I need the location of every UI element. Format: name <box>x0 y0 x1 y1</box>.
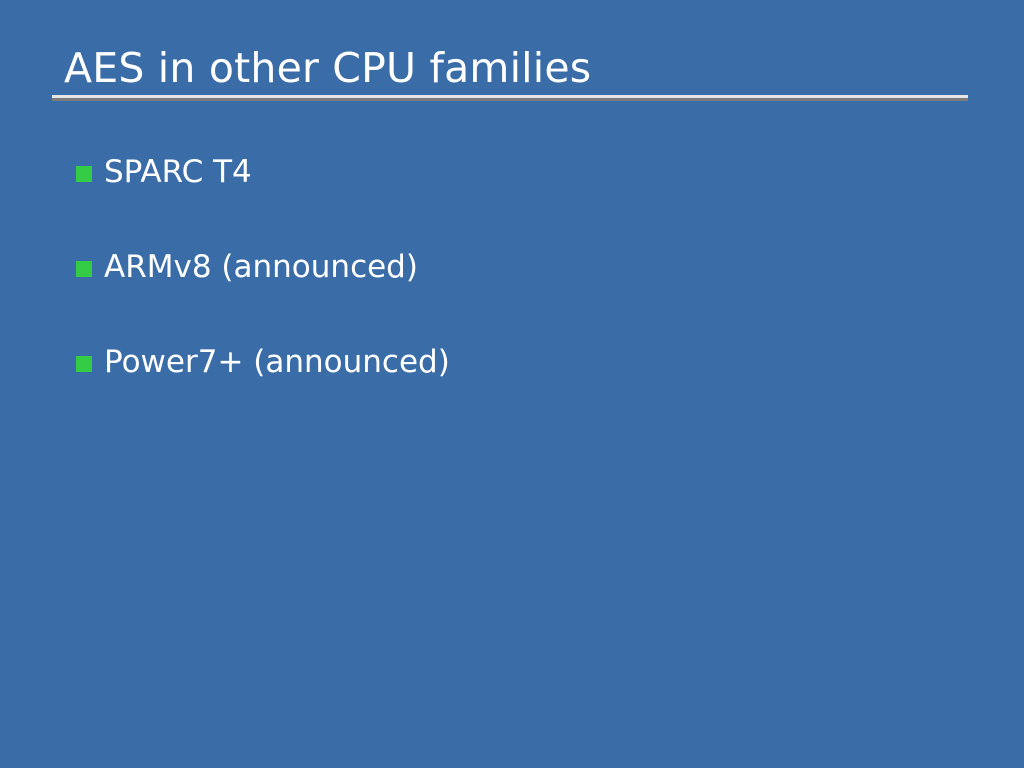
square-bullet-icon <box>76 166 92 182</box>
bullet-item-label: Power7+ (announced) <box>104 342 450 382</box>
bullet-item-label: ARMv8 (announced) <box>104 247 418 287</box>
list-item: ARMv8 (announced) <box>76 247 956 342</box>
square-bullet-icon <box>76 261 92 277</box>
page-title: AES in other CPU families <box>52 44 968 92</box>
square-bullet-icon <box>76 356 92 372</box>
list-item: Power7+ (announced) <box>76 342 956 437</box>
presentation-slide: AES in other CPU families SPARC T4 ARMv8… <box>0 0 1024 768</box>
list-item: SPARC T4 <box>76 152 956 247</box>
bullet-list: SPARC T4 ARMv8 (announced) Power7+ (anno… <box>76 152 956 437</box>
title-divider <box>52 95 968 101</box>
bullet-item-label: SPARC T4 <box>104 152 252 192</box>
divider-shadow-line <box>52 98 968 101</box>
title-block: AES in other CPU families <box>52 44 968 92</box>
